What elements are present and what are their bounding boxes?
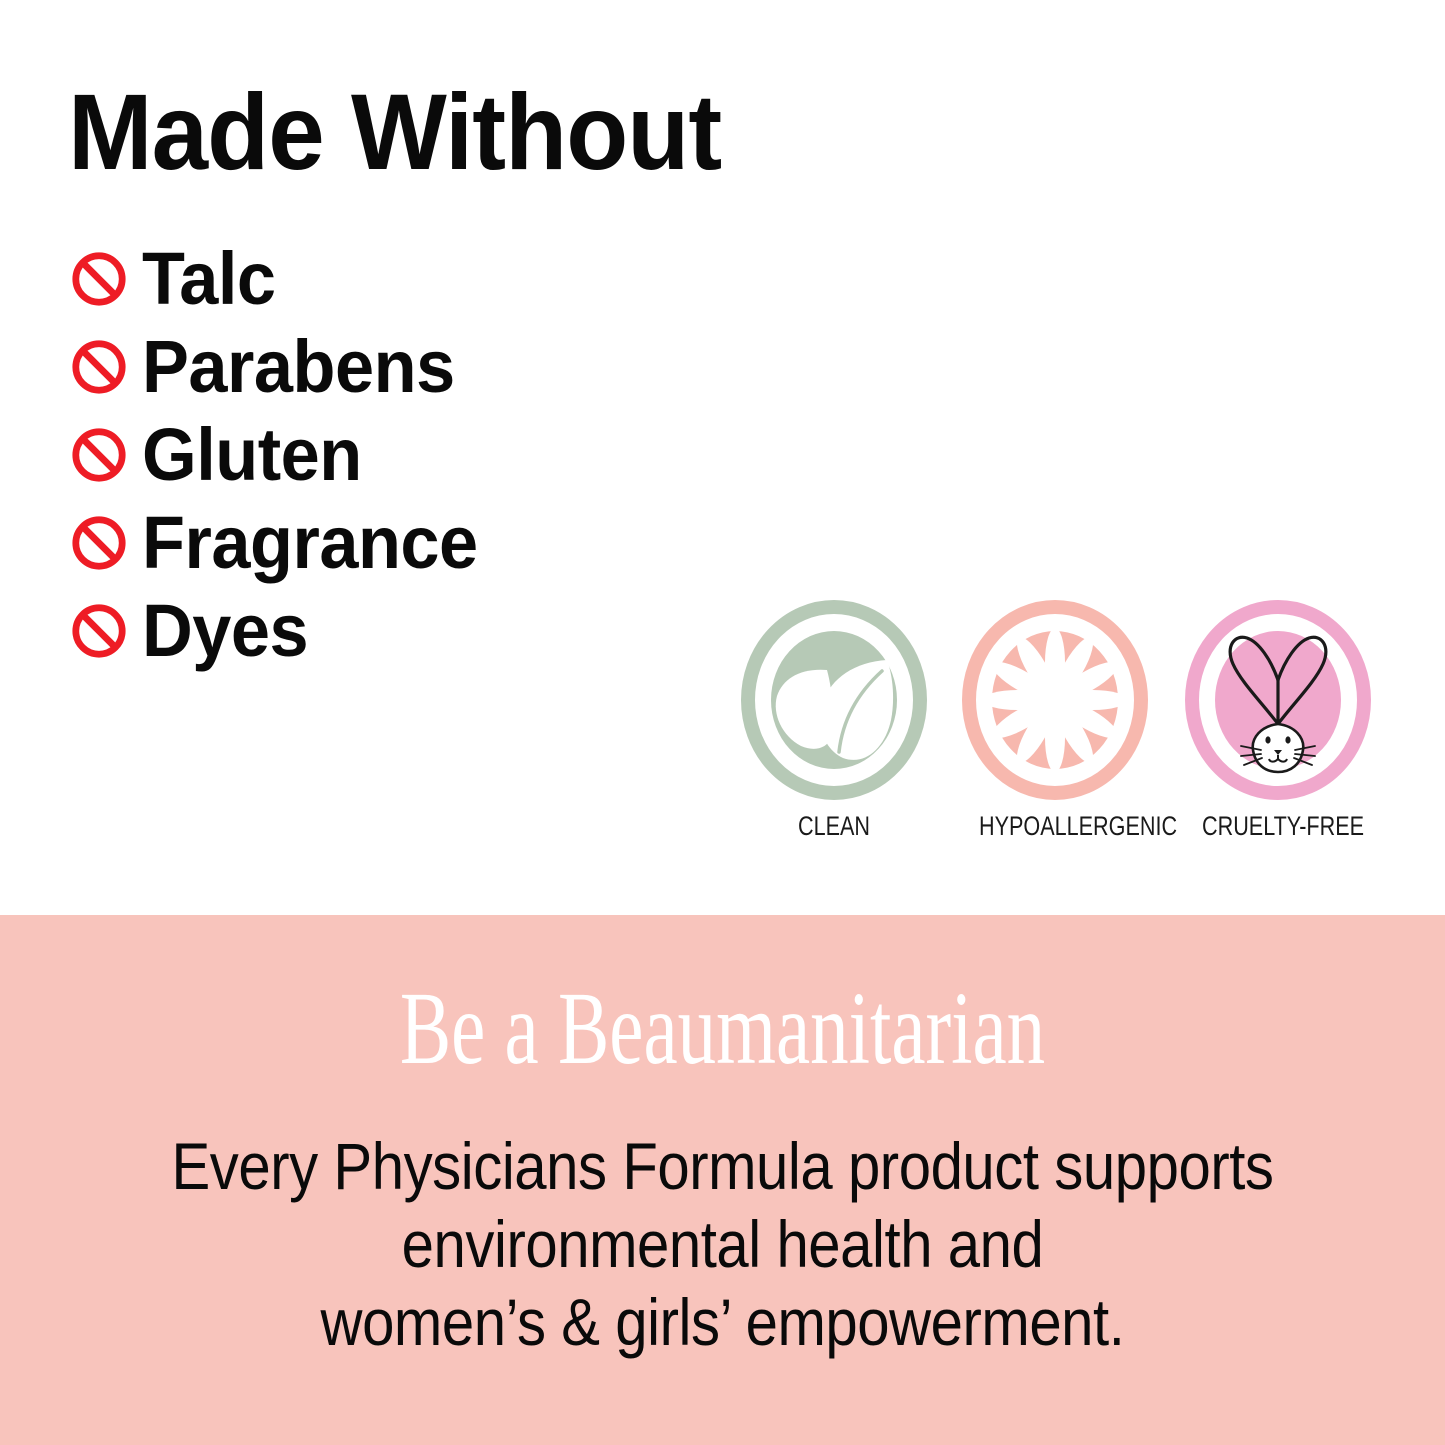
bunny-heart-icon: [1183, 600, 1373, 805]
prohibition-icon: [70, 514, 128, 572]
badge-label: HYPOALLERGENIC: [979, 813, 1131, 840]
beaumanitarian-paragraph: Every Physicians Formula product support…: [0, 1127, 1445, 1361]
list-item-label: Gluten: [142, 418, 362, 492]
badge-label: CRUELTY-FREE: [1202, 813, 1354, 840]
list-item-label: Dyes: [142, 594, 308, 668]
list-item-label: Fragrance: [142, 506, 478, 580]
badge-label: CLEAN: [758, 813, 910, 840]
prohibition-icon: [70, 250, 128, 308]
beaumanitarian-title: Be a Beaumanitarian: [188, 977, 1257, 1081]
beaumanitarian-section: Be a Beaumanitarian Every Physicians For…: [0, 915, 1445, 1445]
made-without-list: Talc Parabens Gluten: [70, 235, 495, 675]
prohibition-icon: [70, 602, 128, 660]
leaves-icon: [739, 600, 929, 805]
list-item-label: Parabens: [142, 330, 455, 404]
list-item: Fragrance: [70, 499, 495, 587]
made-without-infographic: Made Without Talc Parabens: [0, 0, 1445, 1445]
made-without-section: Made Without Talc Parabens: [0, 0, 1445, 915]
list-item: Gluten: [70, 411, 495, 499]
list-item: Parabens: [70, 323, 495, 411]
list-item-label: Talc: [142, 242, 276, 316]
prohibition-icon: [70, 338, 128, 396]
certification-badge-row: CLEAN: [735, 600, 1395, 870]
paragraph-line: environmental health and: [87, 1205, 1359, 1283]
badge-clean: CLEAN: [739, 600, 929, 840]
paragraph-line: Every Physicians Formula product support…: [87, 1127, 1359, 1205]
badge-hypoallergenic: HYPOALLERGENIC: [960, 600, 1150, 840]
list-item: Talc: [70, 235, 495, 323]
flower-icon: [960, 600, 1150, 805]
prohibition-icon: [70, 426, 128, 484]
list-item: Dyes: [70, 587, 495, 675]
paragraph-line: women’s & girls’ empowerment.: [87, 1283, 1359, 1361]
badge-cruelty-free: CRUELTY-FREE: [1183, 600, 1373, 840]
page-title: Made Without: [68, 78, 721, 186]
